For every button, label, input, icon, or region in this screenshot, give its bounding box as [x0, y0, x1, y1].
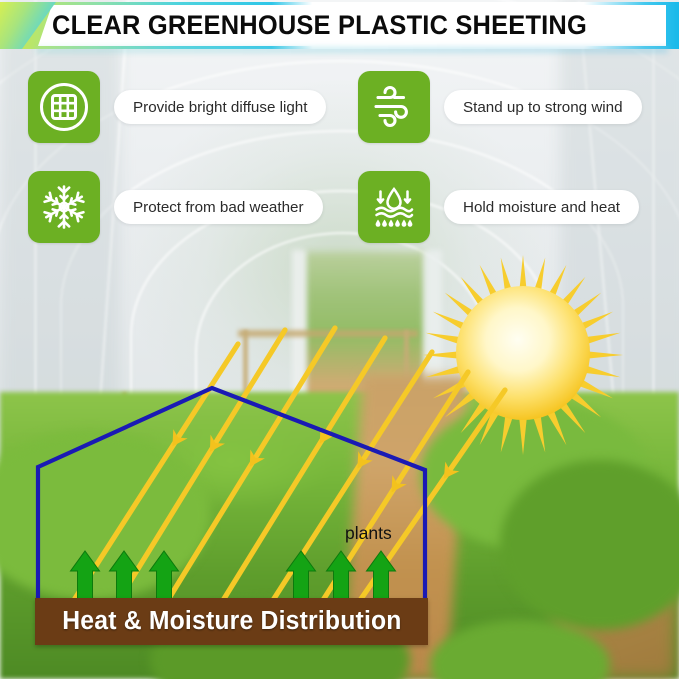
title-bar: CLEAR GREENHOUSE PLASTIC SHEETING [0, 0, 679, 52]
sun-graphic [420, 252, 626, 458]
feature-pill-bad-weather: Protect from bad weather [114, 190, 323, 224]
feature-item-strong-wind[interactable]: Stand up to strong wind [358, 71, 642, 143]
feature-pill-diffuse-light: Provide bright diffuse light [114, 90, 326, 124]
feature-pill-strong-wind: Stand up to strong wind [444, 90, 642, 124]
water-drop-waves-icon [358, 171, 430, 243]
feature-label: Stand up to strong wind [463, 99, 623, 116]
page-title: CLEAR GREENHOUSE PLASTIC SHEETING [52, 5, 638, 46]
feature-item-moisture-heat[interactable]: Hold moisture and heat [358, 171, 639, 243]
product-infographic: plants Heat & Moisture Distribution CLEA… [0, 0, 679, 679]
sun-disc [456, 286, 590, 420]
feature-label: Provide bright diffuse light [133, 99, 307, 116]
feature-pill-moisture-heat: Hold moisture and heat [444, 190, 639, 224]
feature-label: Protect from bad weather [133, 199, 304, 216]
window-grid-icon [28, 71, 100, 143]
wind-icon [358, 71, 430, 143]
feature-list: Provide bright diffuse light Stand up to… [0, 60, 679, 260]
wooden-crossbar [238, 330, 418, 337]
snowflake-icon [28, 171, 100, 243]
feature-label: Hold moisture and heat [463, 199, 620, 216]
feature-item-bad-weather[interactable]: Protect from bad weather [28, 171, 323, 243]
title-bar-glow [36, 47, 668, 53]
feature-item-diffuse-light[interactable]: Provide bright diffuse light [28, 71, 326, 143]
